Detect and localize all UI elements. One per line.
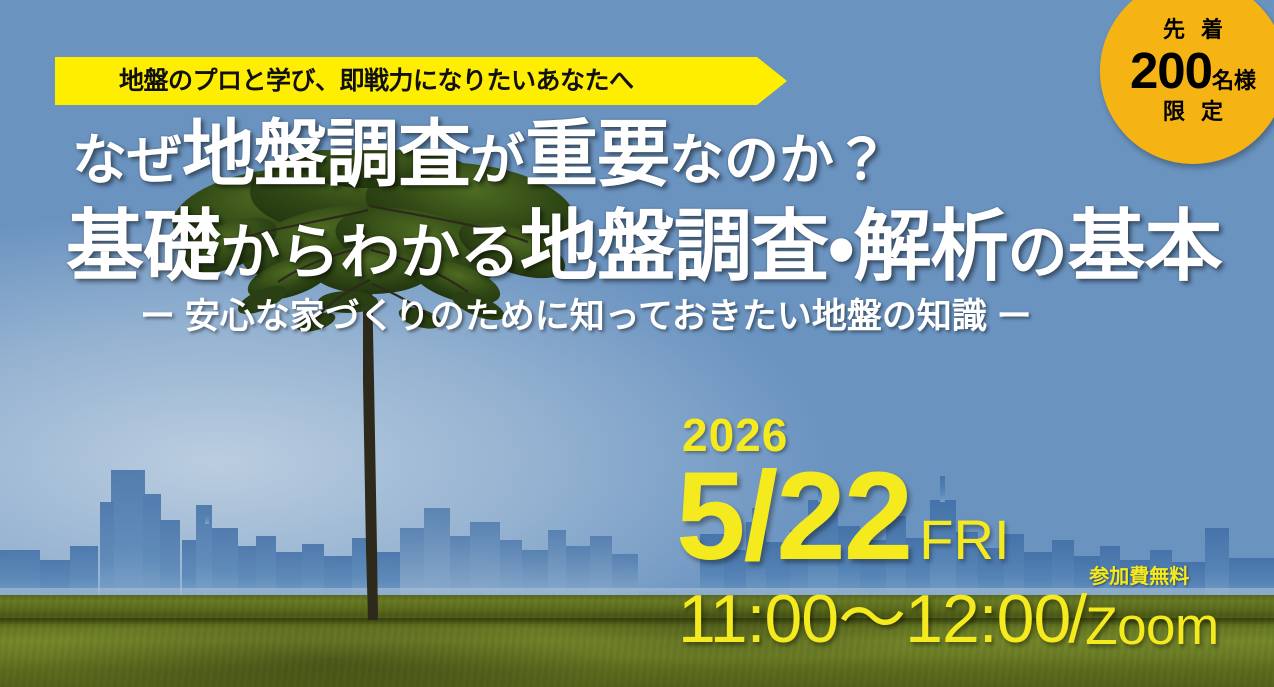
event-time: 11:00〜12:00 — [678, 585, 1070, 653]
event-time-row: 11:00〜12:00 / 参加費無料 Zoom — [678, 585, 1274, 653]
headline-1-seg-3: が — [470, 133, 525, 188]
headline-1-seg-5: なのか？ — [669, 133, 889, 188]
badge-number: 200 — [1130, 45, 1212, 96]
badge-unit: 名様 — [1212, 70, 1256, 92]
badge-capacity-row: 200 名様 — [1130, 45, 1256, 96]
headline-group: なぜ 地盤調査 が 重要 なのか？ 基礎 からわかる 地盤調査・解析 の 基本 … — [0, 118, 1274, 334]
headline-2-seg-4: の — [1008, 223, 1068, 283]
tagline-ribbon: 地盤のプロと学び、即戦力になりたいあなたへ — [55, 57, 787, 105]
headline-line-2: 基礎 からわかる 地盤調査・解析 の 基本 — [0, 207, 1274, 285]
event-date-row: 5/22 FRI — [676, 454, 1274, 579]
headline-1-seg-4: 重要 — [525, 118, 669, 191]
headline-2-seg-2: からわかる — [220, 223, 520, 283]
badge-top-label: 先 着 — [1158, 19, 1228, 41]
tagline-text: 地盤のプロと学び、即戦力になりたいあなたへ — [55, 69, 634, 94]
headline-line-1: なぜ 地盤調査 が 重要 なのか？ — [0, 118, 1274, 191]
headline-subtitle: ー 安心な家づくりのために知っておきたい地盤の知識 ー — [0, 299, 1274, 334]
event-day-of-week: FRI — [919, 512, 1009, 568]
free-admission-note: 参加費無料 — [1089, 567, 1189, 587]
platform-group: 参加費無料 Zoom — [1085, 600, 1218, 653]
webinar-banner: 地盤のプロと学び、即戦力になりたいあなたへ 先 着 200 名様 限 定 なぜ … — [0, 0, 1274, 687]
headline-1-seg-2: 地盤調査 — [182, 118, 470, 191]
headline-2-seg-3: 地盤調査・解析 — [520, 207, 1008, 285]
event-platform: Zoom — [1085, 600, 1218, 653]
schedule-block: 2026 5/22 FRI 11:00〜12:00 / 参加費無料 Zoom — [676, 412, 1274, 653]
headline-1-seg-1: なぜ — [72, 133, 182, 188]
headline-2-seg-5: 基本 — [1068, 207, 1222, 285]
event-date: 5/22 — [676, 454, 911, 579]
headline-2-seg-1: 基礎 — [66, 207, 220, 285]
